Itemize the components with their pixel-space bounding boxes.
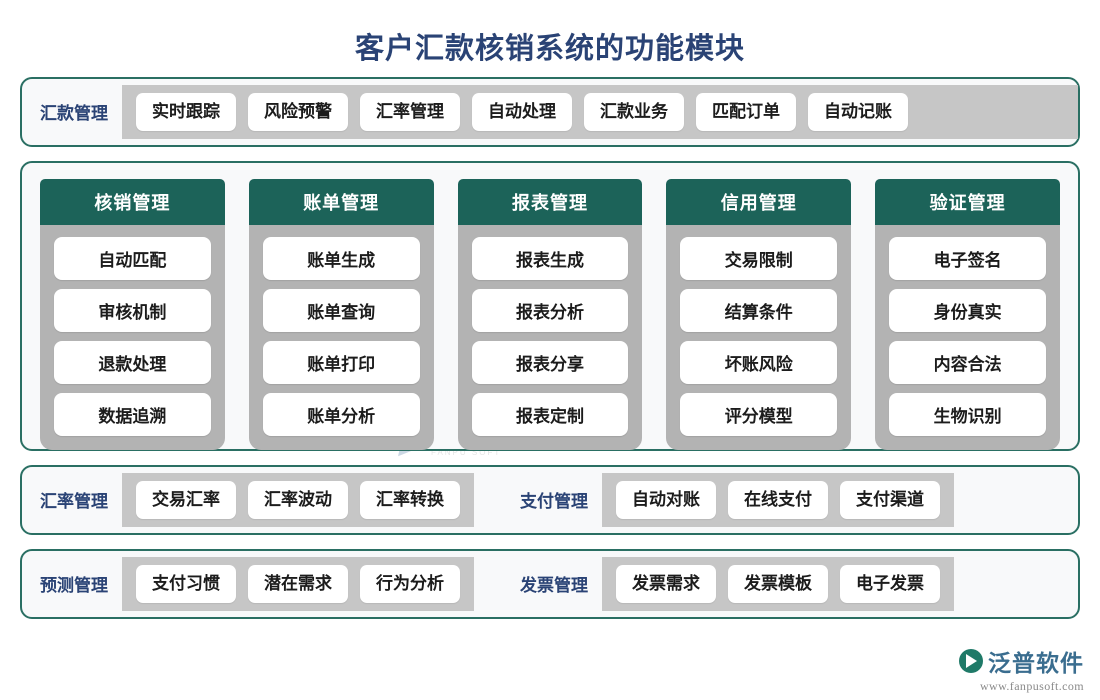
column-item[interactable]: 报表定制 (472, 393, 629, 436)
exchange-payment-panel: 汇率管理 交易汇率 汇率波动 汇率转换 支付管理 自动对账 在线支付 支付渠道 (20, 465, 1080, 535)
column-item[interactable]: 评分模型 (680, 393, 837, 436)
module-column-validation: 验证管理 电子签名 身份真实 内容合法 生物识别 (875, 179, 1060, 433)
column-item[interactable]: 内容合法 (889, 341, 1046, 384)
column-item[interactable]: 自动匹配 (54, 237, 211, 280)
column-item[interactable]: 生物识别 (889, 393, 1046, 436)
row-group-invoice: 发票管理 发票需求 发票模板 电子发票 (502, 551, 954, 617)
column-item[interactable]: 账单生成 (263, 237, 420, 280)
logo-brand-name: 泛普软件 (988, 644, 1084, 678)
column-body: 交易限制 结算条件 坏账风险 评分模型 (666, 225, 851, 450)
remittance-management-panel: 汇款管理 实时跟踪 风险预警 汇率管理 自动处理 汇款业务 匹配订单 自动记账 (20, 77, 1080, 147)
column-item[interactable]: 报表分析 (472, 289, 629, 332)
column-header: 报表管理 (458, 179, 643, 225)
chip-strip-payment: 自动对账 在线支付 支付渠道 (602, 473, 954, 527)
chip-strip-invoice: 发票需求 发票模板 电子发票 (602, 557, 954, 611)
column-item[interactable]: 账单查询 (263, 289, 420, 332)
column-header: 验证管理 (875, 179, 1060, 225)
fanpu-logo-icon (959, 649, 983, 673)
chip-item[interactable]: 行为分析 (360, 565, 460, 603)
logo-row: 泛普软件 (959, 644, 1084, 678)
column-item[interactable]: 退款处理 (54, 341, 211, 384)
row-label-payment: 支付管理 (502, 467, 602, 533)
chip-item[interactable]: 在线支付 (728, 481, 828, 519)
column-item[interactable]: 结算条件 (680, 289, 837, 332)
row-label-exchange-rate: 汇率管理 (22, 467, 122, 533)
chip-item[interactable]: 支付渠道 (840, 481, 940, 519)
chip-item[interactable]: 实时跟踪 (136, 93, 236, 131)
column-item[interactable]: 交易限制 (680, 237, 837, 280)
column-item[interactable]: 报表分享 (472, 341, 629, 384)
chip-item[interactable]: 自动对账 (616, 481, 716, 519)
column-item[interactable]: 审核机制 (54, 289, 211, 332)
module-column-report: 报表管理 报表生成 报表分析 报表分享 报表定制 (458, 179, 643, 433)
row-group-payment: 支付管理 自动对账 在线支付 支付渠道 (502, 467, 954, 533)
column-item[interactable]: 坏账风险 (680, 341, 837, 384)
column-item[interactable]: 账单打印 (263, 341, 420, 384)
module-column-credit: 信用管理 交易限制 结算条件 坏账风险 评分模型 (666, 179, 851, 433)
chip-item[interactable]: 潜在需求 (248, 565, 348, 603)
column-item[interactable]: 电子签名 (889, 237, 1046, 280)
module-columns: 核销管理 自动匹配 审核机制 退款处理 数据追溯 账单管理 账单生成 账单查询 … (40, 179, 1060, 433)
chip-strip-exchange-rate: 交易汇率 汇率波动 汇率转换 (122, 473, 474, 527)
remittance-chip-row: 汇款管理 实时跟踪 风险预警 汇率管理 自动处理 汇款业务 匹配订单 自动记账 (22, 79, 1078, 145)
chip-item[interactable]: 汇率转换 (360, 481, 460, 519)
row-label-invoice: 发票管理 (502, 551, 602, 617)
module-column-bill: 账单管理 账单生成 账单查询 账单打印 账单分析 (249, 179, 434, 433)
row-label-forecast: 预测管理 (22, 551, 122, 617)
chip-strip-forecast: 支付习惯 潜在需求 行为分析 (122, 557, 474, 611)
column-item[interactable]: 数据追溯 (54, 393, 211, 436)
chip-item[interactable]: 发票模板 (728, 565, 828, 603)
logo-website-url: www.fanpusoft.com (959, 679, 1084, 694)
chip-item[interactable]: 电子发票 (840, 565, 940, 603)
column-body: 电子签名 身份真实 内容合法 生物识别 (875, 225, 1060, 450)
chip-item[interactable]: 自动记账 (808, 93, 908, 131)
chip-item[interactable]: 交易汇率 (136, 481, 236, 519)
column-body: 自动匹配 审核机制 退款处理 数据追溯 (40, 225, 225, 450)
page-title: 客户汇款核销系统的功能模块 (0, 0, 1100, 77)
row-label-remittance: 汇款管理 (22, 79, 122, 145)
column-item[interactable]: 身份真实 (889, 289, 1046, 332)
row-group-forecast: 预测管理 支付习惯 潜在需求 行为分析 (22, 551, 474, 617)
chip-item[interactable]: 自动处理 (472, 93, 572, 131)
column-body: 账单生成 账单查询 账单打印 账单分析 (249, 225, 434, 450)
forecast-invoice-panel: 预测管理 支付习惯 潜在需求 行为分析 发票管理 发票需求 发票模板 电子发票 (20, 549, 1080, 619)
chip-strip-remittance: 实时跟踪 风险预警 汇率管理 自动处理 汇款业务 匹配订单 自动记账 (122, 85, 1078, 139)
column-item[interactable]: 报表生成 (472, 237, 629, 280)
chip-item[interactable]: 发票需求 (616, 565, 716, 603)
chip-item[interactable]: 支付习惯 (136, 565, 236, 603)
column-body: 报表生成 报表分析 报表分享 报表定制 (458, 225, 643, 450)
corner-logo: 泛普软件 www.fanpusoft.com (959, 644, 1084, 694)
chip-item[interactable]: 汇款业务 (584, 93, 684, 131)
column-header: 核销管理 (40, 179, 225, 225)
chip-item[interactable]: 汇率波动 (248, 481, 348, 519)
row-group-remittance: 汇款管理 实时跟踪 风险预警 汇率管理 自动处理 汇款业务 匹配订单 自动记账 (22, 79, 1078, 145)
chip-item[interactable]: 风险预警 (248, 93, 348, 131)
column-header: 信用管理 (666, 179, 851, 225)
column-header: 账单管理 (249, 179, 434, 225)
module-grid-panel: 核销管理 自动匹配 审核机制 退款处理 数据追溯 账单管理 账单生成 账单查询 … (20, 161, 1080, 451)
chip-item[interactable]: 汇率管理 (360, 93, 460, 131)
forecast-invoice-chip-row: 预测管理 支付习惯 潜在需求 行为分析 发票管理 发票需求 发票模板 电子发票 (22, 551, 1078, 617)
chip-item[interactable]: 匹配订单 (696, 93, 796, 131)
row-group-exchange-rate: 汇率管理 交易汇率 汇率波动 汇率转换 (22, 467, 474, 533)
exchange-payment-chip-row: 汇率管理 交易汇率 汇率波动 汇率转换 支付管理 自动对账 在线支付 支付渠道 (22, 467, 1078, 533)
column-item[interactable]: 账单分析 (263, 393, 420, 436)
module-column-verification-settlement: 核销管理 自动匹配 审核机制 退款处理 数据追溯 (40, 179, 225, 433)
